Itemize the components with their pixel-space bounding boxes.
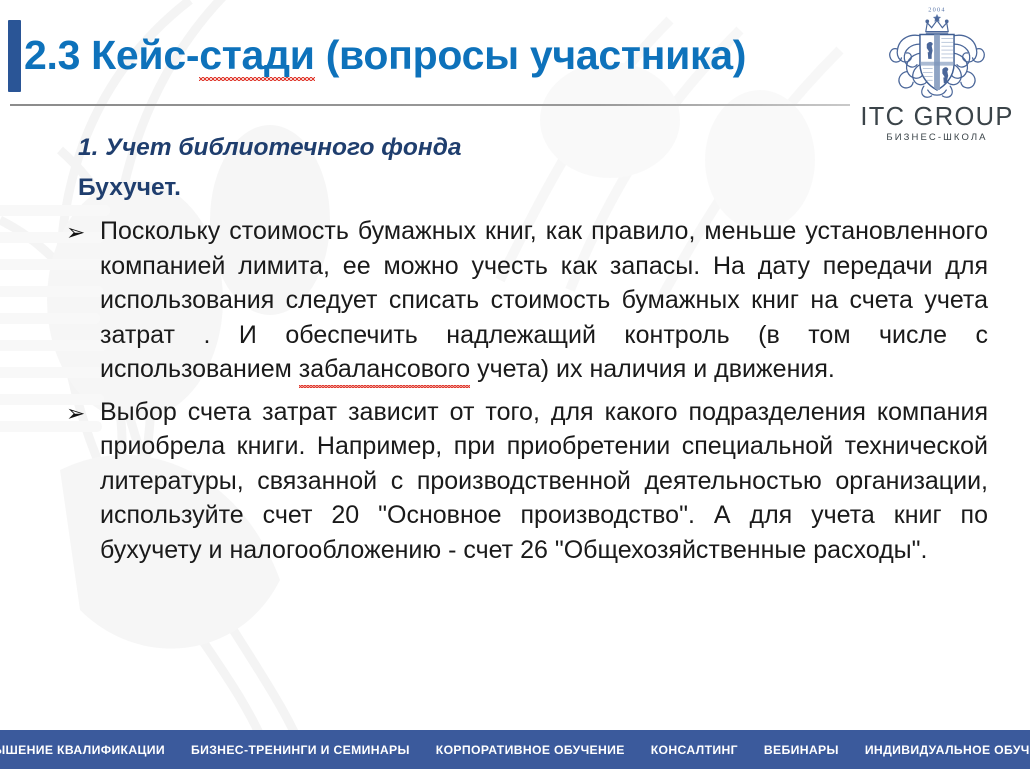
heraldic-crest-icon: 2004 bbox=[881, 4, 993, 102]
content-subheading-secondary: Бухучет. bbox=[78, 168, 1030, 208]
footer-item-professional-development[interactable]: ПОВЫШЕНИЕ КВАЛИФИКАЦИИ bbox=[0, 743, 178, 757]
logo-name: ITC GROUP bbox=[852, 103, 1022, 131]
list-item-text: Поскольку стоимость бумажных книг, как п… bbox=[100, 217, 988, 383]
footer-item-webinars[interactable]: ВЕБИНАРЫ bbox=[751, 743, 852, 757]
bullet-arrow-icon: ➢ bbox=[66, 396, 85, 430]
logo-tagline: БИЗНЕС-ШКОЛА bbox=[852, 132, 1022, 143]
slide-content: 1. Учет библиотечного фонда Бухучет. ➢ П… bbox=[0, 128, 1030, 575]
footer-item-consulting[interactable]: КОНСАЛТИНГ bbox=[638, 743, 751, 757]
footer-item-business-trainings[interactable]: БИЗНЕС-ТРЕНИНГИ И СЕМИНАРЫ bbox=[178, 743, 423, 757]
title-accent-bar bbox=[8, 20, 21, 92]
footer-bottom-spacer bbox=[0, 769, 1030, 775]
footer-navigation-bar: ПОВЫШЕНИЕ КВАЛИФИКАЦИИ БИЗНЕС-ТРЕНИНГИ И… bbox=[0, 730, 1030, 769]
header-divider bbox=[10, 104, 850, 106]
page-title: 2.3 Кейс-стади (вопросы участника) bbox=[24, 27, 844, 83]
list-item-text-part2: учета) их наличия и движения. bbox=[470, 355, 835, 383]
footer-item-corporate-training[interactable]: КОРПОРАТИВНОЕ ОБУЧЕНИЕ bbox=[423, 743, 638, 757]
misspelled-word-text: забалансового bbox=[299, 355, 470, 383]
list-item: ➢ Выбор счета затрат зависит от того, дл… bbox=[66, 395, 988, 568]
spellcheck-squiggle-icon bbox=[199, 77, 314, 81]
misspelled-word: забалансового bbox=[299, 352, 470, 387]
page-title-prefix: 2.3 Кейс- bbox=[24, 32, 199, 78]
footer-item-individual-training[interactable]: ИНДИВИДУАЛЬНОЕ ОБУЧЕНИЕ bbox=[852, 743, 1030, 757]
brand-logo: 2004 bbox=[852, 4, 1022, 143]
page-title-misspelled-word: стади bbox=[199, 27, 314, 83]
list-item: ➢ Поскольку стоимость бумажных книг, как… bbox=[66, 214, 988, 387]
presentation-slide: 2.3 Кейс-стади (вопросы участника) 2004 bbox=[0, 0, 1030, 775]
list-item-text: Выбор счета затрат зависит от того, для … bbox=[100, 398, 988, 564]
page-title-suffix: (вопросы участника) bbox=[315, 32, 747, 78]
bullet-arrow-icon: ➢ bbox=[66, 215, 85, 249]
svg-text:2004: 2004 bbox=[928, 7, 946, 14]
bullet-list: ➢ Поскольку стоимость бумажных книг, как… bbox=[0, 214, 1030, 567]
spellcheck-squiggle-icon bbox=[299, 385, 470, 388]
page-title-misspelled-text: стади bbox=[199, 32, 314, 78]
